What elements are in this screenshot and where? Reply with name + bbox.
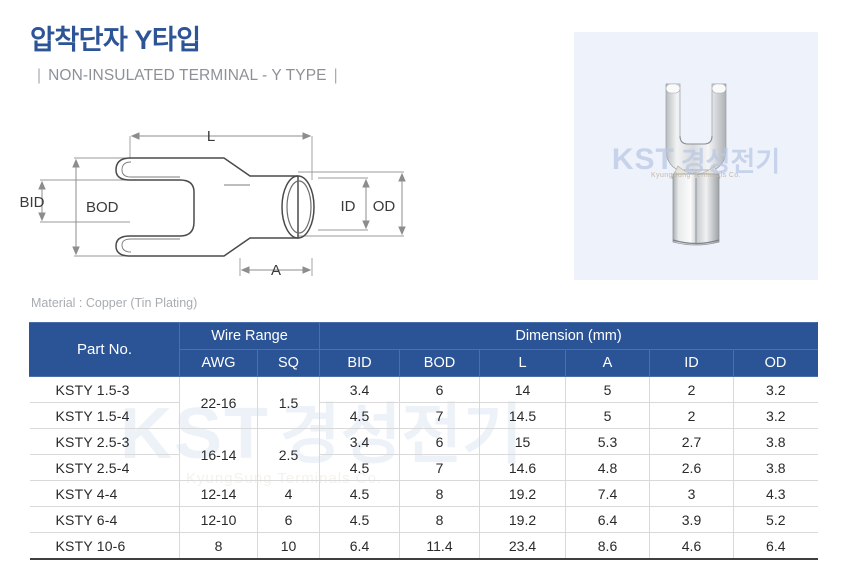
cell-od: 6.4	[734, 533, 818, 560]
cell-a: 7.4	[566, 481, 650, 507]
cell-part-no: KSTY 2.5-4	[30, 455, 180, 481]
cell-bod: 8	[400, 481, 480, 507]
cell-bid: 3.4	[320, 377, 400, 403]
table-body: KSTY 1.5-322-161.53.4614523.2KSTY 1.5-44…	[30, 377, 818, 560]
title-block: 압착단자 Y타입 |NON-INSULATED TERMINAL - Y TYP…	[30, 26, 550, 85]
table-row: KSTY 2.5-316-142.53.46155.32.73.8	[30, 429, 818, 455]
cell-id: 2.7	[650, 429, 734, 455]
cell-awg: 22-16	[180, 377, 258, 429]
cell-id: 2	[650, 403, 734, 429]
cell-id: 2	[650, 377, 734, 403]
cell-a: 5	[566, 377, 650, 403]
cell-id: 3	[650, 481, 734, 507]
header-a: A	[566, 350, 650, 377]
subtitle-bar-right: |	[327, 67, 345, 84]
cell-id: 2.6	[650, 455, 734, 481]
cell-l: 19.2	[480, 507, 566, 533]
cell-bid: 4.5	[320, 507, 400, 533]
cell-bid: 4.5	[320, 455, 400, 481]
cell-od: 3.2	[734, 403, 818, 429]
cell-a: 4.8	[566, 455, 650, 481]
cell-od: 5.2	[734, 507, 818, 533]
cell-awg: 8	[180, 533, 258, 560]
header-od: OD	[734, 350, 818, 377]
cell-bod: 11.4	[400, 533, 480, 560]
table-row: KSTY 4-412-1444.5819.27.434.3	[30, 481, 818, 507]
cell-l: 14.5	[480, 403, 566, 429]
header-bod: BOD	[400, 350, 480, 377]
cell-sq: 2.5	[258, 429, 320, 481]
subtitle-bar-left: |	[30, 67, 48, 84]
page-subtitle: |NON-INSULATED TERMINAL - Y TYPE|	[30, 67, 550, 85]
cell-part-no: KSTY 4-4	[30, 481, 180, 507]
cell-l: 23.4	[480, 533, 566, 560]
cell-bid: 4.5	[320, 403, 400, 429]
cell-a: 6.4	[566, 507, 650, 533]
specification-table: Part No. Wire Range Dimension (mm) AWG S…	[29, 322, 818, 560]
cell-part-no: KSTY 10-6	[30, 533, 180, 560]
cell-sq: 4	[258, 481, 320, 507]
cell-awg: 12-10	[180, 507, 258, 533]
drawing-label-l: L	[207, 128, 215, 145]
header-part-no: Part No.	[30, 323, 180, 377]
table-header: Part No. Wire Range Dimension (mm) AWG S…	[30, 323, 818, 377]
drawing-label-bod: BOD	[86, 199, 119, 216]
cell-l: 19.2	[480, 481, 566, 507]
cell-id: 3.9	[650, 507, 734, 533]
header-dimension: Dimension (mm)	[320, 323, 818, 350]
cell-sq: 1.5	[258, 377, 320, 429]
table-row: KSTY 2.5-44.5714.64.82.63.8	[30, 455, 818, 481]
cell-part-no: KSTY 6-4	[30, 507, 180, 533]
table-row: KSTY 10-68106.411.423.48.64.66.4	[30, 533, 818, 560]
cell-id: 4.6	[650, 533, 734, 560]
cell-a: 5.3	[566, 429, 650, 455]
table-row: KSTY 1.5-44.5714.5523.2	[30, 403, 818, 429]
table-row: KSTY 1.5-322-161.53.4614523.2	[30, 377, 818, 403]
cell-od: 3.8	[734, 429, 818, 455]
cell-l: 14.6	[480, 455, 566, 481]
product-photo-panel: KST 경성전기 KyungSung Terminals Co.	[574, 32, 818, 280]
cell-a: 5	[566, 403, 650, 429]
cell-sq: 10	[258, 533, 320, 560]
table-row: KSTY 6-412-1064.5819.26.43.95.2	[30, 507, 818, 533]
cell-bod: 6	[400, 377, 480, 403]
technical-drawing: L BID BOD A ID OD	[12, 110, 442, 292]
header-wire-range: Wire Range	[180, 323, 320, 350]
cell-od: 3.8	[734, 455, 818, 481]
cell-l: 15	[480, 429, 566, 455]
header-awg: AWG	[180, 350, 258, 377]
drawing-label-id: ID	[341, 198, 356, 215]
cell-bid: 4.5	[320, 481, 400, 507]
drawing-label-od: OD	[373, 198, 396, 215]
cell-part-no: KSTY 1.5-4	[30, 403, 180, 429]
drawing-label-bid: BID	[19, 194, 44, 211]
cell-bid: 6.4	[320, 533, 400, 560]
cell-od: 4.3	[734, 481, 818, 507]
cell-a: 8.6	[566, 533, 650, 560]
material-note: Material : Copper (Tin Plating)	[31, 296, 197, 310]
cell-part-no: KSTY 1.5-3	[30, 377, 180, 403]
cell-l: 14	[480, 377, 566, 403]
header-sq: SQ	[258, 350, 320, 377]
cell-sq: 6	[258, 507, 320, 533]
drawing-label-a: A	[271, 262, 281, 279]
cell-awg: 16-14	[180, 429, 258, 481]
cell-bod: 8	[400, 507, 480, 533]
cell-part-no: KSTY 2.5-3	[30, 429, 180, 455]
header-bid: BID	[320, 350, 400, 377]
cell-bod: 7	[400, 455, 480, 481]
cell-od: 3.2	[734, 377, 818, 403]
terminal-photograph	[574, 32, 818, 280]
cell-bid: 3.4	[320, 429, 400, 455]
cell-bod: 6	[400, 429, 480, 455]
header-id: ID	[650, 350, 734, 377]
table-header-row-1: Part No. Wire Range Dimension (mm)	[30, 323, 818, 350]
page-title: 압착단자 Y타입	[30, 26, 550, 56]
header-l: L	[480, 350, 566, 377]
cell-awg: 12-14	[180, 481, 258, 507]
cell-bod: 7	[400, 403, 480, 429]
subtitle-text: NON-INSULATED TERMINAL - Y TYPE	[48, 67, 326, 84]
